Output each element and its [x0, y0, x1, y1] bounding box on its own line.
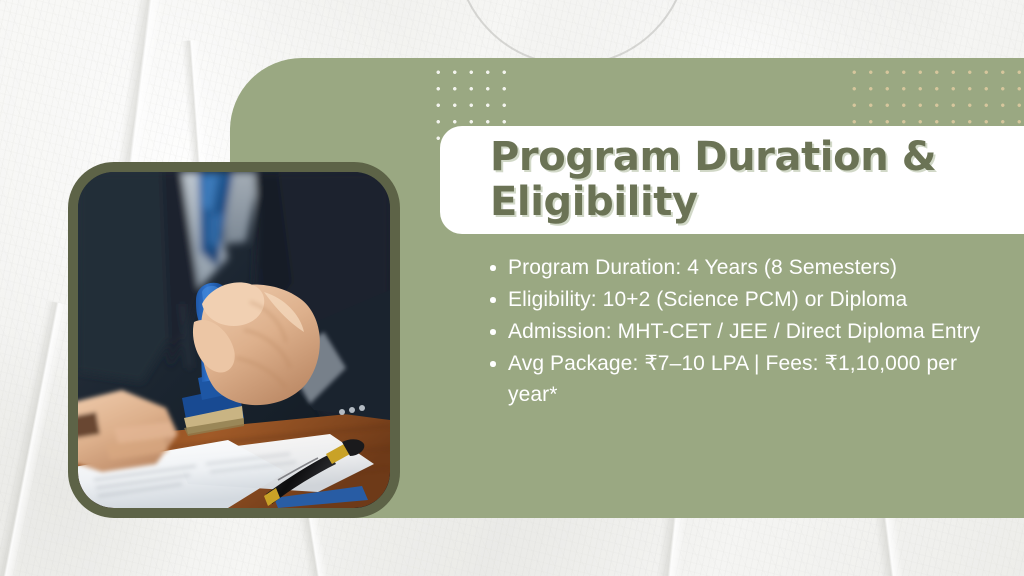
photo-card [68, 162, 400, 518]
slide-canvas: Program Duration & Eligibility Program D… [0, 0, 1024, 576]
bullet-list: Program Duration: 4 Years (8 Semesters) … [486, 252, 996, 411]
title-card: Program Duration & Eligibility [440, 126, 1024, 234]
list-item: Program Duration: 4 Years (8 Semesters) [486, 252, 996, 283]
list-item: Avg Package: ₹7–10 LPA | Fees: ₹1,10,000… [486, 348, 996, 410]
dot-grid-tan-decoration [844, 62, 1024, 132]
page-title: Program Duration & Eligibility [440, 135, 936, 225]
photo-frame [78, 172, 390, 508]
stamping-document-photo [78, 172, 390, 508]
list-item: Admission: MHT-CET / JEE / Direct Diplom… [486, 316, 996, 347]
list-item: Eligibility: 10+2 (Science PCM) or Diplo… [486, 284, 996, 315]
